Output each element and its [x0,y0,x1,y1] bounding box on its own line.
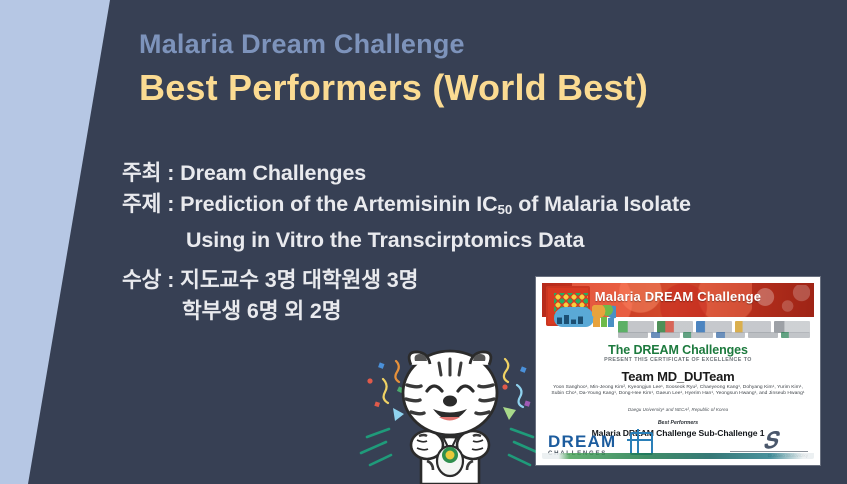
award-line-1: 수상 : 지도교수 3명 대학원생 3명 [122,265,418,296]
white-tiger-mascot [355,345,545,484]
certificate-affiliation: Daegu University¹ and NECA², Republic of… [548,407,808,412]
dream-logo-mark-icon [630,432,653,455]
certificate-image: Malaria DREAM Challenge [536,277,820,465]
sponsor-logo [618,332,648,338]
sponsor-logo [683,332,713,338]
topic-label-tail: of Malaria Isolate [512,192,691,216]
sponsor-logo [748,332,778,338]
body-block: 주최 : Dream Challenges 주제 : Prediction of… [122,158,691,256]
certificate-present-text: PRESENT THIS CERTIFICATE OF EXCELLENCE T… [542,357,814,363]
certificate-org-name: The DREAM Challenges [542,343,814,357]
topic-line-2: Using in Vitro the Transcirptomics Data [122,225,691,256]
topic-label: 주제 : Prediction of the Artemisinin IC [122,192,498,216]
certificate-team-name: Team MD_DUTeam [542,369,814,384]
signature-line [730,451,808,452]
page-title: Best Performers (World Best) [139,65,648,110]
certificate-best-performers: Best Performers [542,420,814,426]
sponsor-logo [651,332,681,338]
sponsor-logo [781,332,811,338]
award-block: 수상 : 지도교수 3명 대학원생 3명 학부생 6명 외 2명 [122,265,418,327]
heading-block: Malaria Dream Challenge Best Performers … [139,28,648,110]
left-diagonal-accent [0,0,130,484]
topic-subscript: 50 [498,202,513,217]
certificate-member-names: Yoon Sanghoo¹, Min-Jeong Kim², Kyeongjun… [548,385,808,398]
sponsor-logo [716,332,746,338]
sponsor-logos-row-2 [618,331,810,339]
slide-canvas: Malaria Dream Challenge Best Performers … [0,0,847,484]
award-line-2: 학부생 6명 외 2명 [122,296,418,327]
people-icon [592,305,616,327]
kicker-title: Malaria Dream Challenge [139,28,648,62]
topic-line: 주제 : Prediction of the Artemisinin IC50 … [122,189,691,225]
cloud-chart-icon [554,307,594,327]
host-line: 주최 : Dream Challenges [122,158,691,189]
certificate-inner: Malaria DREAM Challenge [542,283,814,459]
certificate-footer-bar [542,453,814,459]
